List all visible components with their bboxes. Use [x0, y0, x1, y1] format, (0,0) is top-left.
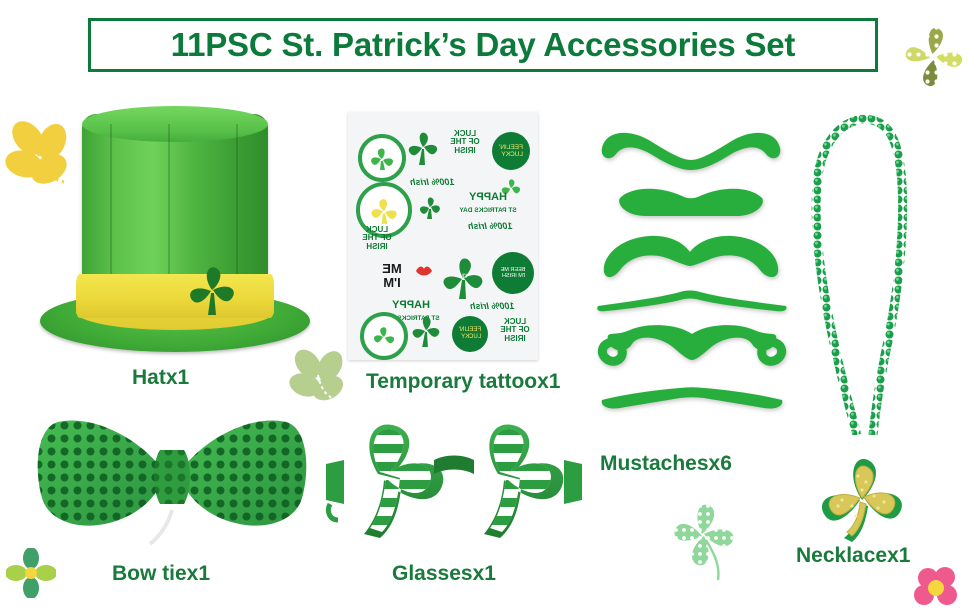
- mustache-wavy: [596, 126, 786, 170]
- tattoo-circle-badge: FEELIN'LUCKY: [492, 132, 530, 170]
- flower-pink-bottom-right-icon: [912, 564, 960, 608]
- tattoo-phrase: 100% Irish: [410, 178, 455, 187]
- mustache-straight: [600, 384, 784, 414]
- title-banner: 11PSC St. Patrick’s Day Accessories Set: [88, 18, 878, 72]
- clover-polkadot-top-right-icon: [896, 14, 970, 104]
- caption-glasses: Glassesx1: [392, 562, 496, 586]
- caption-bowtie: Bow tiex1: [112, 562, 210, 586]
- caption-necklace: Necklacex1: [796, 544, 910, 568]
- tattoo-circle-badge: BEER MEI'M IRISH: [492, 252, 534, 294]
- tattoo-phrase: LUCKOF THEIRISH: [496, 318, 534, 343]
- product-glasses: [322, 412, 586, 540]
- product-tattoo-sheet: LUCKOF THEIRISH FEELIN'LUCKY 100% Irish …: [348, 112, 538, 360]
- caption-hat: Hatx1: [132, 366, 189, 390]
- mustache-pencil: [596, 288, 788, 316]
- mustache-walrus: [600, 232, 782, 280]
- caption-tattoo: Temporary tattoox1: [366, 370, 561, 394]
- necklace-shamrock-pendant-icon: [812, 448, 912, 544]
- product-necklace: [795, 105, 945, 435]
- flower-green-bottom-left-icon: [6, 548, 56, 598]
- tattoo-phrase: HAPPY ST PATRICKS DAY: [448, 192, 528, 215]
- tattoo-circle-badge: [360, 312, 408, 360]
- tattoo-circle-badge: FEELIN'LUCKY: [452, 316, 488, 352]
- tattoo-circle-badge: [358, 134, 406, 182]
- svg-text:I'M: I'M: [459, 274, 467, 280]
- tattoo-phrase: 100% Irish: [470, 302, 515, 311]
- page-title: 11PSC St. Patrick’s Day Accessories Set: [171, 26, 795, 64]
- hat-seam: [110, 124, 112, 294]
- hat-shamrock-icon: [186, 260, 238, 316]
- tattoo-shamrock: [418, 194, 442, 220]
- tattoo-phrase: MEI'M: [364, 262, 420, 289]
- mustache-chevron: [616, 184, 766, 220]
- clover-sage-middle-icon: [286, 344, 350, 406]
- tattoo-phrase: LUCKOF THEIRISH: [442, 130, 488, 155]
- product-hat: [40, 102, 310, 352]
- clover-polkadot-bottom-icon: [664, 494, 746, 582]
- mustache-handlebar: [594, 322, 790, 378]
- product-mustaches: [596, 126, 791, 416]
- tattoo-shamrock: [410, 312, 442, 348]
- caption-mustaches: Mustachesx6: [600, 452, 732, 476]
- lips-icon: [414, 264, 434, 278]
- product-bow-tie: [32, 406, 312, 546]
- tattoo-shamrock: [406, 128, 440, 166]
- tattoo-shamrock: I'M: [440, 252, 486, 300]
- hat-seam: [168, 124, 170, 294]
- tattoo-phrase: LUCKOF THEIRISH: [356, 226, 398, 251]
- product-image-canvas: 11PSC St. Patrick’s Day Accessories Set: [0, 0, 970, 600]
- hat-band: [76, 274, 274, 318]
- tattoo-phrase: 100% Irish: [468, 222, 513, 231]
